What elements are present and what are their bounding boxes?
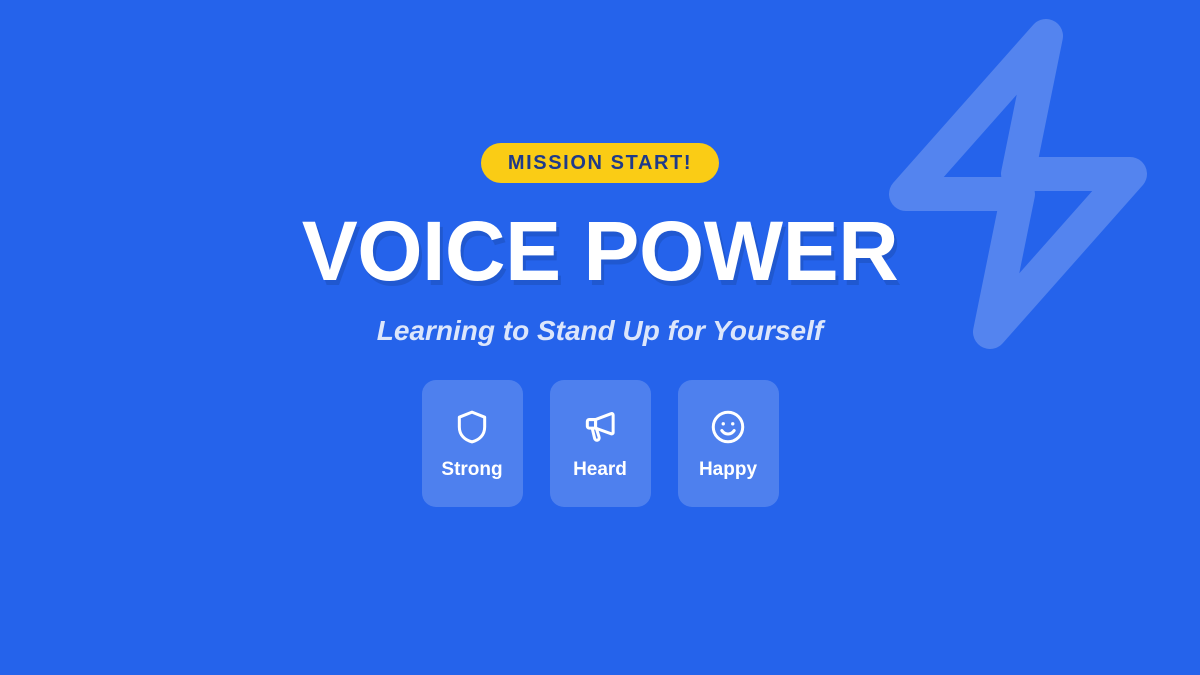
feature-card-heard: Heard: [550, 380, 651, 507]
feature-card-happy: Happy: [678, 380, 779, 507]
shield-icon: [453, 408, 491, 446]
feature-card-strong: Strong: [422, 380, 523, 507]
page-subtitle: Learning to Stand Up for Yourself: [377, 315, 823, 347]
mission-start-badge: MISSION START!: [481, 143, 719, 183]
page-title: VOICE POWER: [302, 209, 899, 293]
smiley-icon: [709, 408, 747, 446]
slide-canvas: MISSION START! VOICE POWER Learning to S…: [0, 0, 1200, 675]
feature-card-label: Heard: [573, 460, 627, 479]
feature-cards: Strong Heard: [422, 380, 779, 507]
feature-card-label: Happy: [699, 460, 757, 479]
feature-card-label: Strong: [441, 460, 502, 479]
slide-content: MISSION START! VOICE POWER Learning to S…: [0, 0, 1200, 507]
megaphone-icon: [581, 408, 619, 446]
